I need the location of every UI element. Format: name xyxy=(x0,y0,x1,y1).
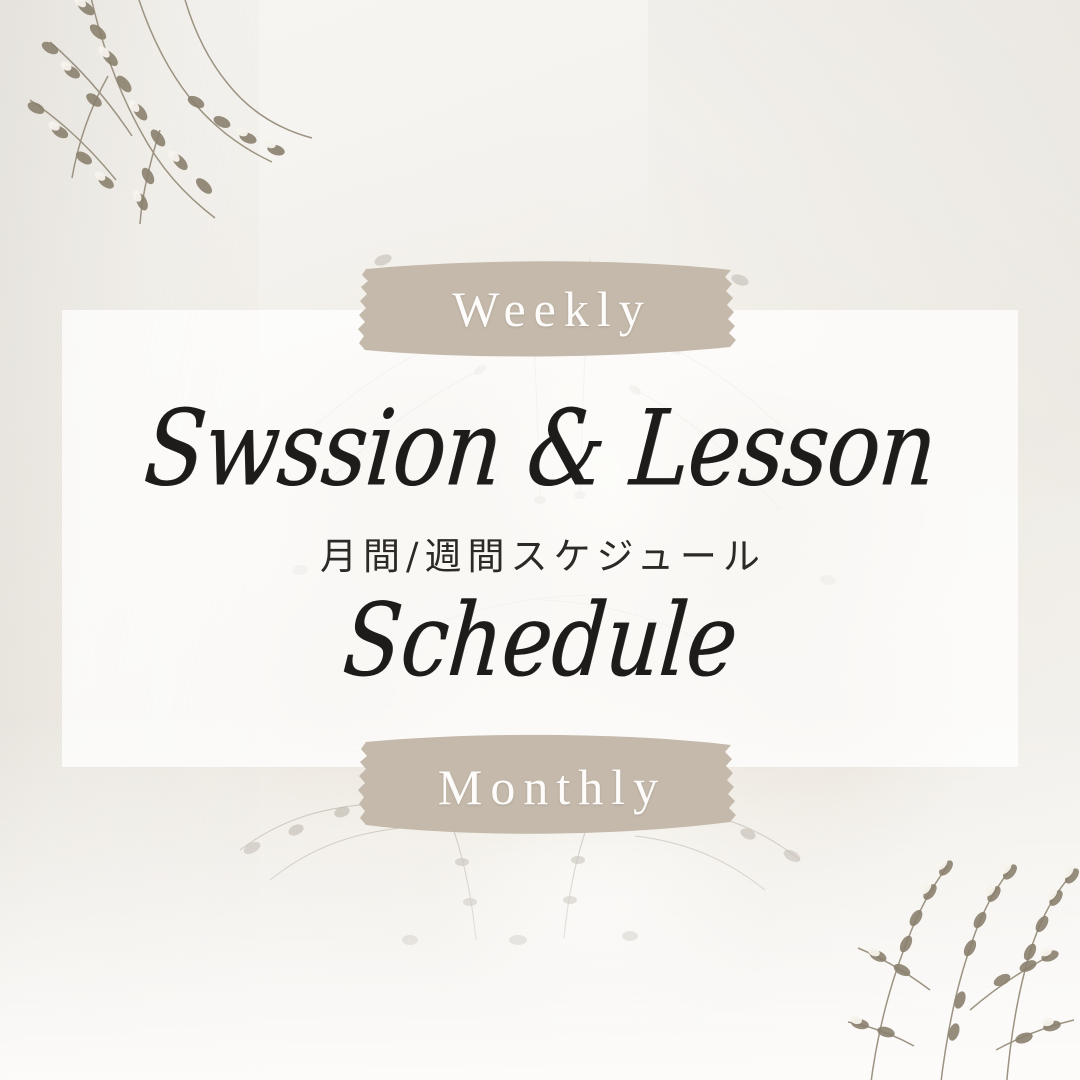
schedule-poster: Weekly Swssion & Lesson 月間/週間スケジュール Sche… xyxy=(0,0,1080,1080)
title-japanese-subtitle: 月間/週間スケジュール xyxy=(314,526,766,580)
banner-monthly-label: Monthly xyxy=(352,758,744,816)
title-script-line-1: Swssion & Lesson xyxy=(141,397,940,502)
banner-monthly: Monthly xyxy=(352,728,744,846)
bottom-right-dried-sprig-icon xyxy=(810,840,1080,1080)
title-script-line-2: Schedule xyxy=(339,590,741,691)
top-left-dried-sprig-icon xyxy=(0,0,320,270)
title-block: Swssion & Lesson 月間/週間スケジュール Schedule xyxy=(62,310,1018,767)
